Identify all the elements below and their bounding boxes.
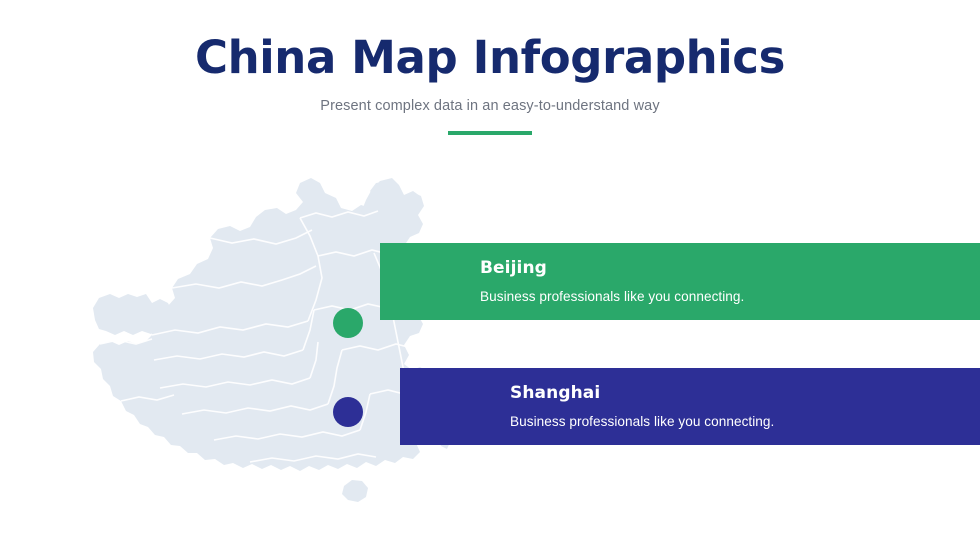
shanghai-description: Business professionals like you connecti… [510,403,980,430]
beijing-city-label: Beijing [480,258,980,278]
shanghai-city-label: Shanghai [510,383,980,403]
beijing-marker[interactable] [333,308,363,338]
beijing-callout[interactable]: Beijing Business professionals like you … [404,243,980,320]
shanghai-callout[interactable]: Shanghai Business professionals like you… [434,368,980,445]
map-stage: Beijing Business professionals like you … [0,0,980,551]
slide-canvas: China Map Infographics Present complex d… [0,0,980,551]
shanghai-marker[interactable] [333,397,363,427]
china-landmass [93,178,451,502]
beijing-description: Business professionals like you connecti… [480,278,980,305]
